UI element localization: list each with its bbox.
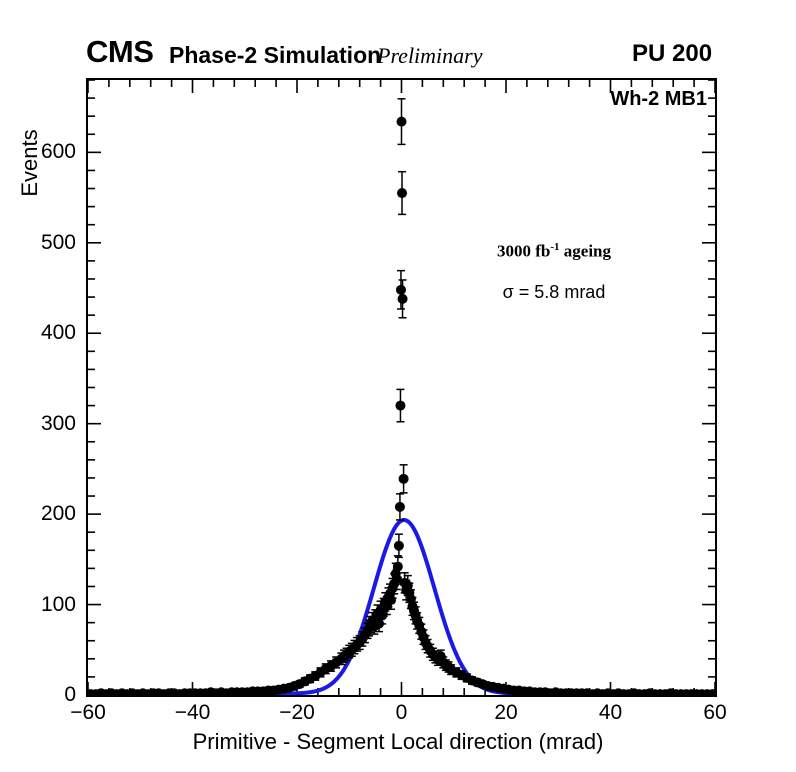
y-axis-title: Events [17, 73, 43, 253]
simulation-label: Phase-2 Simulation [169, 40, 381, 70]
x-axis-title: Primitive - Segment Local direction (mra… [0, 729, 796, 755]
y-tick-label: 100 [14, 593, 76, 617]
y-tick-label: 300 [14, 412, 76, 436]
resolution-label: σ = 5.8 mrad [404, 282, 704, 303]
x-tick-label: 60 [703, 701, 726, 725]
plot-frame: Wh-2 MB1 3000 fb-1 ageing σ = 5.8 mrad [86, 78, 717, 697]
cms-header: CMS Phase-2 Simulation Preliminary PU 20… [0, 38, 796, 72]
luminosity-label: 3000 fb-1 ageing [404, 241, 704, 262]
x-tick-label: −20 [279, 701, 315, 725]
data-points [88, 99, 715, 695]
plot-canvas: CMS Phase-2 Simulation Preliminary PU 20… [0, 0, 796, 772]
y-tick-label: 200 [14, 502, 76, 526]
x-tick-label: 40 [599, 701, 622, 725]
wheel-station-label: Wh-2 MB1 [88, 80, 719, 111]
x-tick-label: 20 [494, 701, 517, 725]
cms-logo-text: CMS [86, 35, 153, 69]
pileup-label: PU 200 [632, 38, 712, 70]
x-tick-label: −40 [175, 701, 211, 725]
y-tick-label: 0 [14, 683, 76, 707]
x-tick-label: 0 [396, 701, 408, 725]
y-tick-label: 400 [14, 321, 76, 345]
plot-drawing-area [88, 80, 715, 695]
preliminary-label: Preliminary [377, 41, 483, 71]
